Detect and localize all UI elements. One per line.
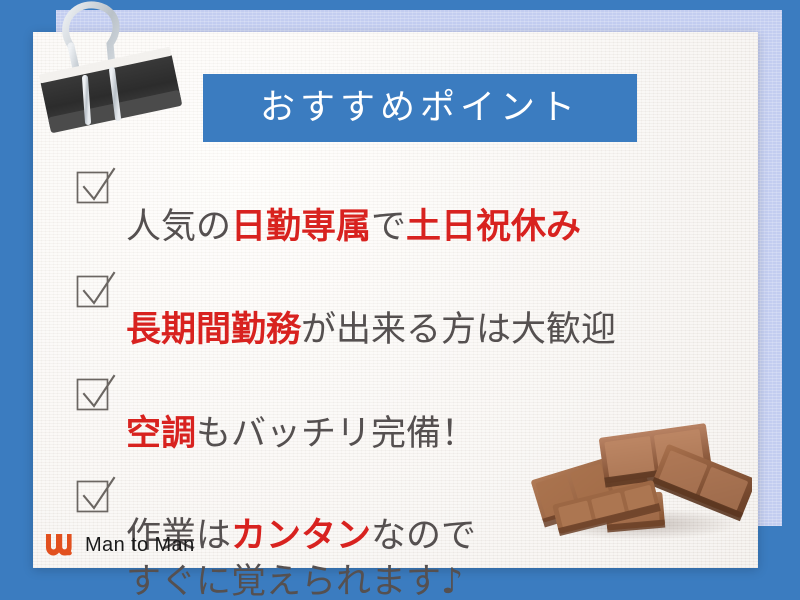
header-banner: おすすめポイント — [203, 74, 637, 142]
checkbox-checked-icon — [74, 268, 116, 314]
text-segment: もバッチリ完備！ — [196, 414, 476, 454]
list-item-text: 長期間勤務が出来る方は大歓迎 — [126, 264, 616, 354]
list-item-text: 空調もバッチリ完備！ — [126, 367, 476, 457]
list-item: 長期間勤務が出来る方は大歓迎 — [74, 264, 724, 354]
man-to-man-logo-mark-icon — [44, 531, 74, 559]
checkbox-checked-icon — [74, 371, 116, 417]
text-segment-highlight: 長期間勤務 — [126, 310, 301, 350]
checkbox-checked-icon — [74, 164, 116, 210]
banner-title: おすすめポイント — [260, 91, 580, 126]
text-segment-highlight: 日勤専属 — [231, 207, 371, 247]
brand-logo: Man to Man — [44, 528, 195, 562]
text-segment: 人気の — [126, 207, 231, 247]
text-segment: で — [371, 207, 406, 247]
poster-canvas: おすすめポイント 人気の日勤専属で土日祝休み 長期間勤務 — [0, 0, 800, 600]
text-segment-highlight: 空調 — [126, 414, 196, 454]
list-item: 空調もバッチリ完備！ — [74, 367, 724, 457]
list-item: 人気の日勤専属で土日祝休み — [74, 160, 724, 250]
text-segment: が出来る方は大歓迎 — [301, 310, 616, 350]
list-item-text: 人気の日勤専属で土日祝休み — [126, 160, 581, 250]
text-segment-highlight: カンタン — [231, 516, 371, 556]
checkbox-checked-icon — [74, 473, 116, 519]
brand-logo-text: Man to Man — [85, 535, 195, 555]
text-segment-highlight: 土日祝休み — [406, 207, 581, 247]
